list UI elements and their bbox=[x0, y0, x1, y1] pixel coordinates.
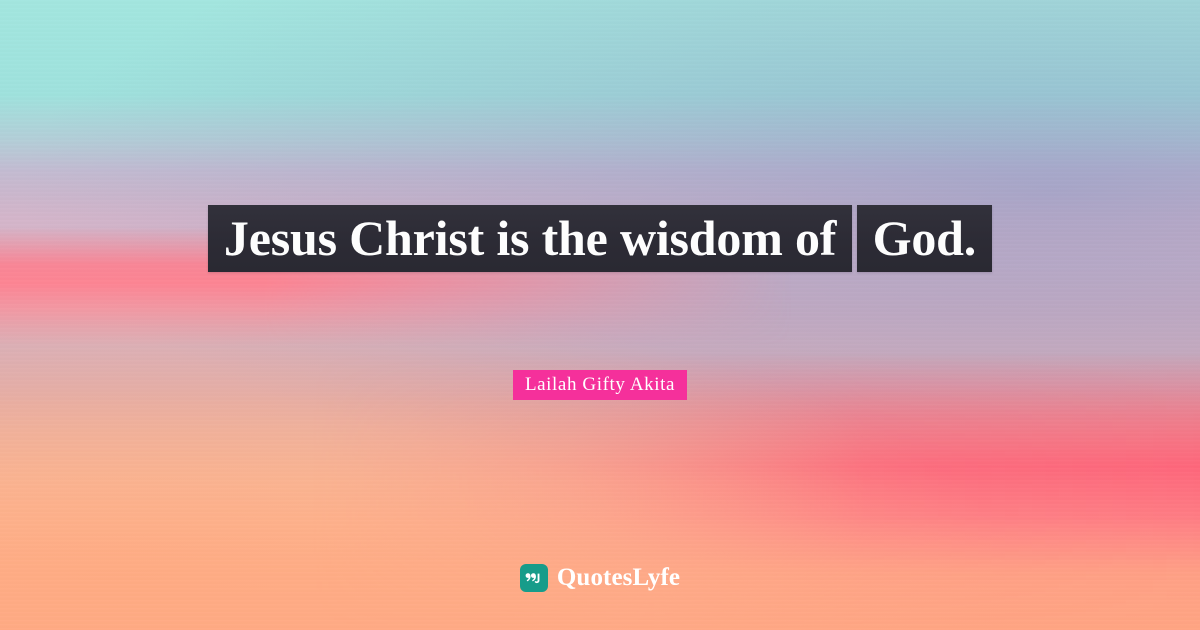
background-periwinkle-haze bbox=[0, 0, 1200, 630]
quote-line-2: God. bbox=[857, 205, 992, 272]
quote-block: Jesus Christ is the wisdom of God. bbox=[0, 196, 1200, 272]
background-peach-glow bbox=[0, 0, 1200, 630]
background-coral-streak-right bbox=[0, 0, 1200, 630]
author-block: Lailah Gifty Akita bbox=[0, 370, 1200, 400]
background-lavender-wash bbox=[0, 0, 1200, 630]
background-coral-streak-left bbox=[0, 0, 1200, 630]
author-name-badge[interactable]: Lailah Gifty Akita bbox=[513, 370, 687, 400]
quote-line-1: Jesus Christ is the wisdom of bbox=[208, 205, 852, 272]
quote-mark-icon bbox=[520, 564, 548, 592]
brand-watermark[interactable]: QuotesLyfe bbox=[0, 564, 1200, 592]
background-gradient-base bbox=[0, 0, 1200, 630]
quote-card: Jesus Christ is the wisdom of God. Laila… bbox=[0, 0, 1200, 630]
brand-name: QuotesLyfe bbox=[557, 564, 680, 592]
background-motion-blur-stripes bbox=[0, 0, 1200, 630]
